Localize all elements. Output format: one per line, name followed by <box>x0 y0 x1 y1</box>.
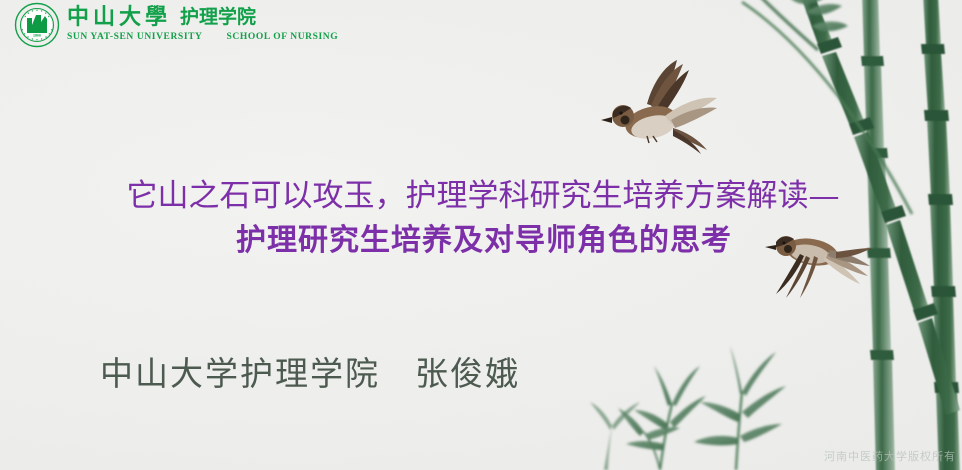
slide-title-block: 它山之石可以攻玉，护理学科研究生培养方案解读— 护理研究生培养及对导师角色的思考 <box>0 178 962 259</box>
brand-header: 1866 中山大學 护理学院 SUN YAT-SEN UNIVERSITY SC… <box>14 0 338 50</box>
brand-university-name-cn: 中山大學 <box>67 7 171 29</box>
slide-author-affiliation: 中山大学护理学院 张俊娥 <box>100 347 520 395</box>
sparrow-flying-wings-up <box>601 60 717 154</box>
slide-title-line-1: 它山之石可以攻玉，护理学科研究生培养方案解读— <box>0 178 962 215</box>
brand-school-name-cn: 护理学院 <box>180 8 256 27</box>
brand-english-row: SUN YAT-SEN UNIVERSITY SCHOOL OF NURSING <box>67 33 338 43</box>
copyright-watermark: 河南中医药大学版权所有 <box>824 448 956 464</box>
brand-school-name-en: SCHOOL OF NURSING <box>227 33 339 43</box>
presentation-slide: 1866 中山大學 护理学院 SUN YAT-SEN UNIVERSITY SC… <box>0 0 962 470</box>
bamboo-shoots-bottom <box>618 346 786 470</box>
slide-title-line-2: 护理研究生培养及对导师角色的思考 <box>0 223 962 259</box>
brand-chinese-row: 中山大學 护理学院 <box>67 7 338 29</box>
bamboo-leaves-top <box>790 0 848 31</box>
brand-university-name-en: SUN YAT-SEN UNIVERSITY <box>67 33 203 43</box>
sun-yat-sen-university-seal-logo: 1866 <box>14 2 60 48</box>
bamboo-leaves-bottom-left <box>590 402 640 470</box>
brand-wordmark: 中山大學 护理学院 SUN YAT-SEN UNIVERSITY SCHOOL … <box>67 7 338 43</box>
logo-established-year: 1866 <box>33 33 41 37</box>
